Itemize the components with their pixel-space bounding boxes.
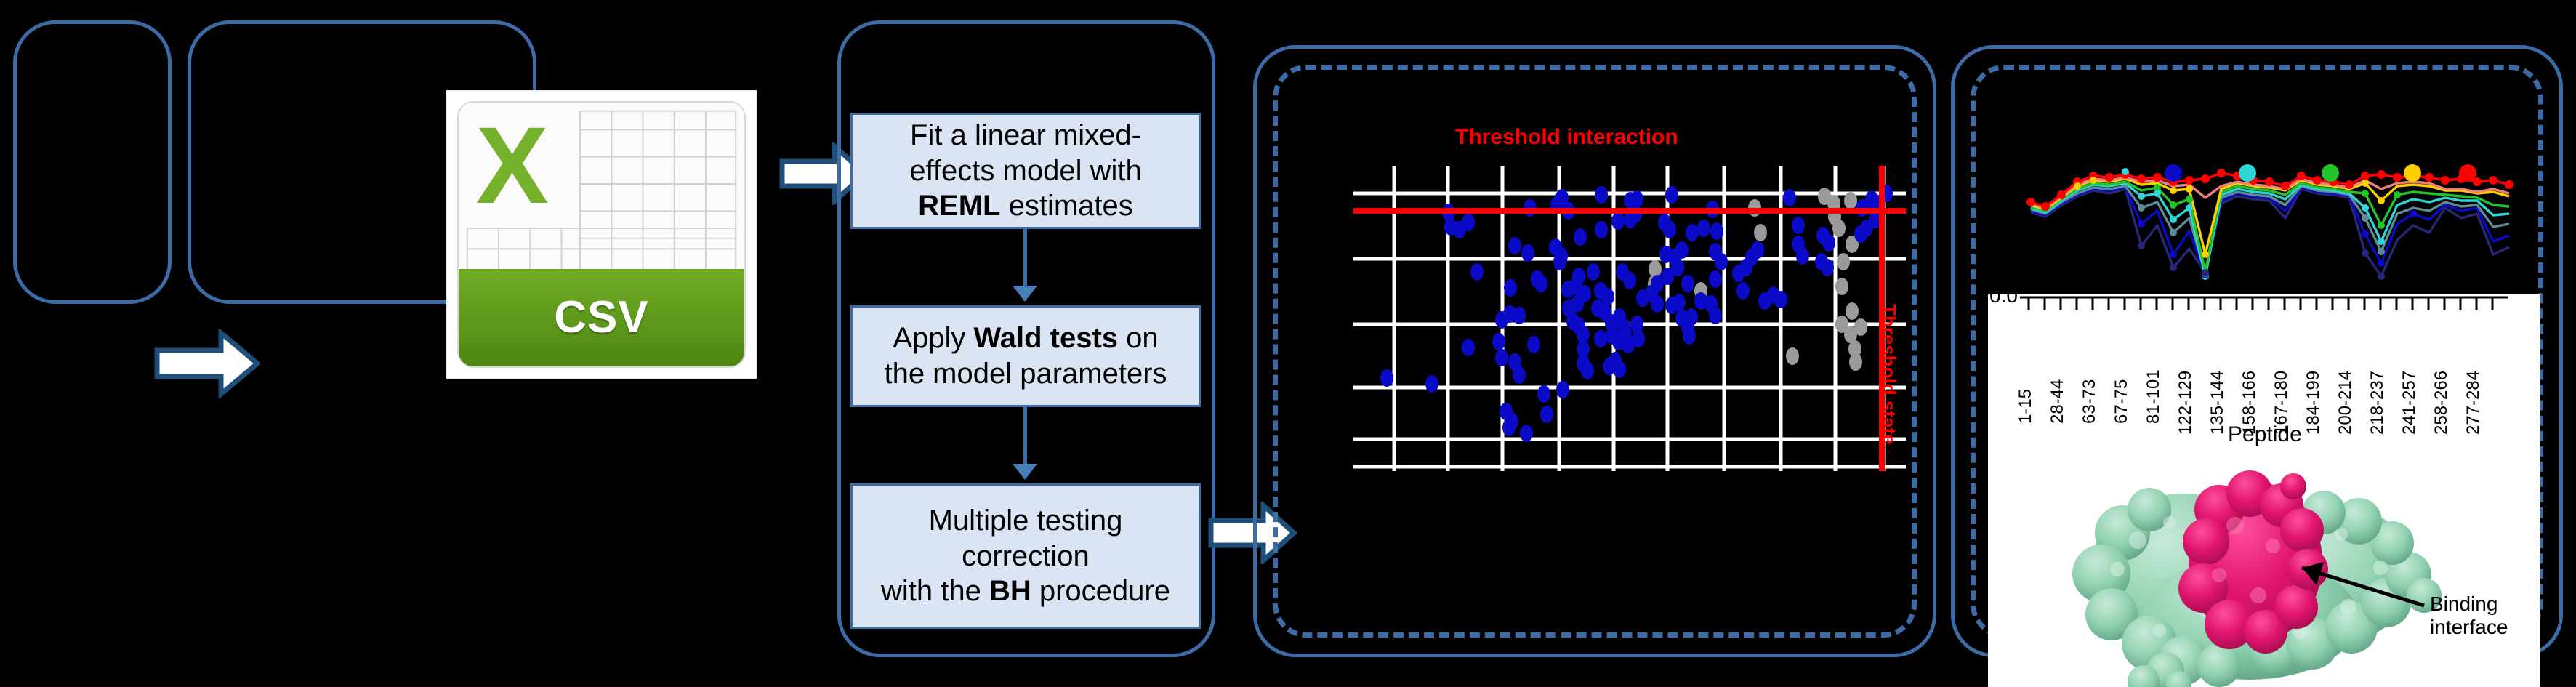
peptide-tick: 200-214 <box>2335 371 2356 435</box>
peptide-tick: 135-144 <box>2207 371 2228 435</box>
step-model-text: Fit a linear mixed-effects model withREM… <box>909 118 1141 224</box>
binding-interface-label: Binding interface <box>2430 592 2508 639</box>
peptide-tick: 63-73 <box>2080 379 2100 424</box>
connector-model-to-wald <box>1023 229 1027 294</box>
binding-interface-line1: Binding <box>2430 592 2508 616</box>
peptide-tick: 218-237 <box>2367 371 2388 435</box>
arrow-into-data <box>154 329 260 398</box>
peptide-tick: 258-266 <box>2431 371 2452 435</box>
legend-dot-yellow <box>2404 164 2421 182</box>
peptide-profile-chart <box>2013 138 2522 305</box>
protein-surface-icon <box>1988 453 2540 687</box>
threshold-interaction-label: Threshold interaction <box>1455 125 1678 150</box>
connector-arrowhead-1 <box>1013 286 1037 302</box>
peptide-tick: 67-75 <box>2112 379 2132 424</box>
peptide-tick: 1-15 <box>2016 389 2036 424</box>
volcano-scatter-plot: Threshold interaction Threshold state <box>1353 166 1906 471</box>
flowchart-canvas: X CSV Fit a linear mixed-effects model w… <box>0 0 2576 687</box>
profile-xaxis-label: Peptide <box>2228 422 2302 447</box>
step-bh-text: Multiple testingcorrectionwith the BH pr… <box>881 503 1170 609</box>
profile-xaxis <box>1988 294 2540 324</box>
scatter-canvas <box>1353 166 1906 471</box>
connector-wald-to-bh <box>1023 407 1027 473</box>
csv-band-label: CSV <box>459 269 744 366</box>
peptide-tick: 184-199 <box>2303 371 2324 435</box>
structure-figure-card: 0.0 1-15 <box>1988 294 2540 687</box>
panel-input <box>13 20 172 304</box>
step-wald-box[interactable]: Apply Wald tests onthe model parameters <box>850 305 1201 407</box>
step-model-box[interactable]: Fit a linear mixed-effects model withREM… <box>850 113 1201 229</box>
legend-dot-blue <box>2165 164 2182 182</box>
step-bh-box[interactable]: Multiple testingcorrectionwith the BH pr… <box>850 483 1201 629</box>
step-wald-text: Apply Wald tests onthe model parameters <box>884 321 1167 392</box>
binding-interface-line2: interface <box>2430 616 2508 639</box>
peptide-tick: 277-284 <box>2463 371 2484 435</box>
series-navy <box>2031 189 2509 276</box>
peptide-tick: 122-129 <box>2175 371 2196 435</box>
excel-x-icon: X <box>476 111 549 220</box>
series-green <box>2031 182 2509 272</box>
legend-dot-green <box>2322 164 2339 182</box>
csv-file-icon[interactable]: X CSV <box>447 91 756 378</box>
peptide-tick: 241-257 <box>2399 371 2420 435</box>
legend-dot-red <box>2459 164 2476 182</box>
peptide-tick: 81-101 <box>2144 369 2164 424</box>
peptide-tick: 28-44 <box>2048 379 2068 424</box>
legend-dot-cyan <box>2239 164 2256 182</box>
threshold-state-label: Threshold state <box>1877 304 1900 445</box>
connector-arrowhead-2 <box>1013 464 1037 480</box>
csv-icon-body: X CSV <box>457 101 746 368</box>
